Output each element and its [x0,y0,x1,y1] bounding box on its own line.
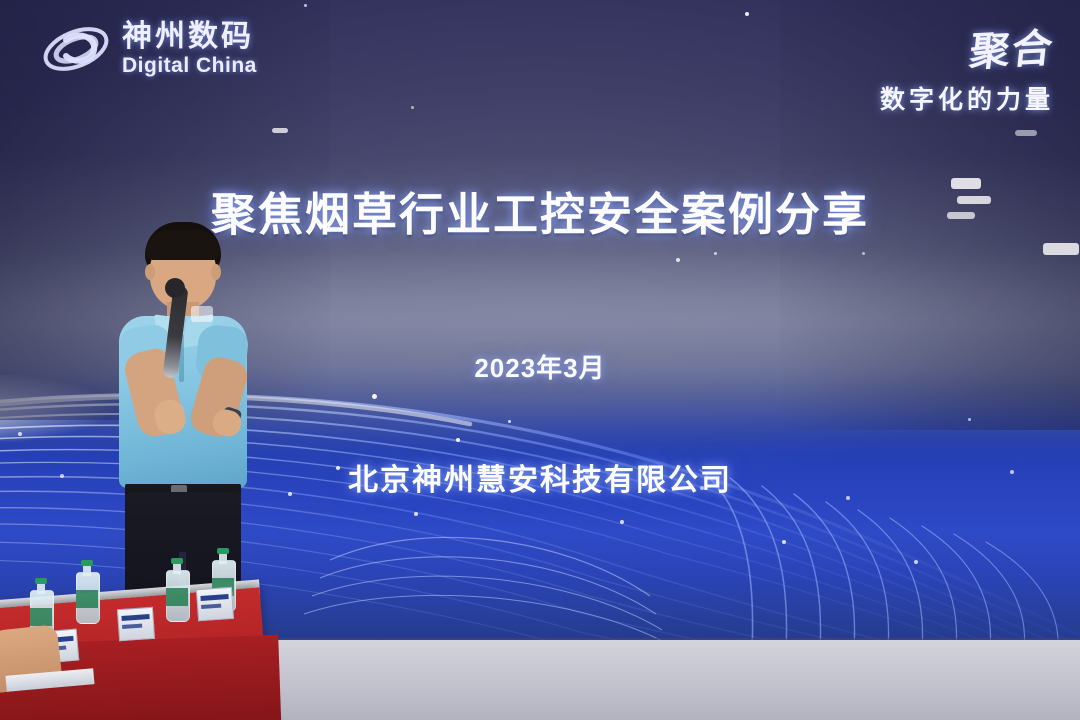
water-bottle [166,558,188,620]
water-bottle [76,560,98,622]
digital-china-en-text: Digital China [122,55,257,76]
presenter-ear-left [145,264,155,280]
juhe-subtitle-text: 数字化的力量 [880,80,1054,116]
presenter-ear-right [211,264,221,280]
digital-china-logo: 神州数码 Digital China [40,18,257,80]
name-card [196,587,234,621]
conference-stage-photo: 神州数码 Digital China 聚合 数字化的力量 聚焦烟草行业工控安全案… [0,0,1080,720]
name-card [117,607,155,641]
shirt-logo-icon [191,306,213,322]
digital-china-cn-text: 神州数码 [122,22,257,52]
swirl-ring-icon [40,18,112,80]
juhe-calligraphy-text: 聚合 [876,15,1057,82]
presenter-hair-front [146,230,220,260]
juhe-logo: 聚合 数字化的力量 [880,20,1054,116]
